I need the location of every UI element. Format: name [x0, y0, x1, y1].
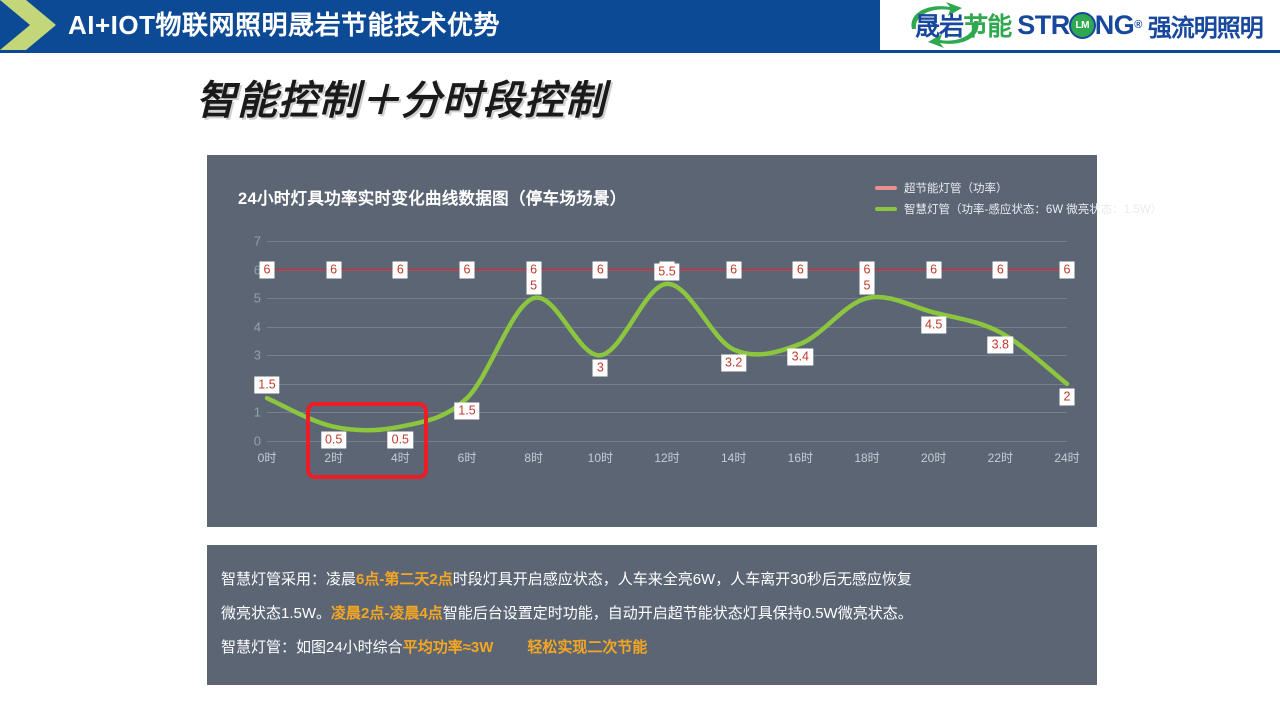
header-arrow-icon: [0, 0, 56, 50]
info-text: 时段灯具开启感应状态，人车来全亮6W，人车离开30秒后无感应恢复: [453, 571, 912, 588]
logo-cn-green: 节能: [963, 13, 1011, 41]
y-axis-tick-label: 0: [254, 434, 261, 449]
logo-lm-badge: LM: [1069, 12, 1096, 39]
legend-swatch-icon: [875, 186, 897, 190]
info-line: 微亮状态1.5W。凌晨2点-凌晨4点智能后台设置定时功能，自动开启超节能状态灯具…: [221, 597, 1083, 631]
legend-label: 智慧灯管（功率-感应状态：6W 微亮状态：1.5W）: [904, 201, 1162, 217]
data-point-label: 6: [393, 261, 408, 278]
brand-logo: 晟岩节能 STR LM NG ® 强流明照明: [880, 0, 1280, 50]
data-point-label: 6: [1060, 261, 1075, 278]
data-point-label: 2: [1060, 388, 1075, 405]
x-axis-tick-label: 6时: [458, 449, 477, 466]
logo-brand-chinese: 强流明照明: [1148, 8, 1263, 43]
data-point-label: 6: [726, 261, 741, 278]
data-point-label: 6: [260, 261, 275, 278]
data-point-label: 1.5: [254, 377, 279, 394]
data-point-label: 6: [860, 261, 875, 278]
y-axis-labels: 01234567: [237, 241, 261, 441]
chart-panel: 24小时灯具功率实时变化曲线数据图（停车场场景） 超节能灯管（功率）智慧灯管（功…: [207, 155, 1097, 527]
data-point-label: 6: [926, 261, 941, 278]
data-point-label: 6: [460, 261, 475, 278]
logo-brand-strong: STR LM NG ®: [1017, 10, 1142, 41]
chart-title: 24小时灯具功率实时变化曲线数据图（停车场场景）: [238, 185, 627, 209]
slide-root: AI+IOT物联网照明晟岩节能技术优势 晟岩节能 STR LM NG ® 强流明…: [0, 0, 1280, 720]
info-highlight-text: 平均功率≈3W: [403, 639, 494, 656]
x-axis-tick-label: 12时: [654, 449, 679, 466]
registered-mark-icon: ®: [1134, 19, 1142, 31]
legend-swatch-icon: [875, 207, 897, 211]
y-axis-tick-label: 3: [254, 348, 261, 363]
logo-cn-dark: 晟岩: [915, 13, 963, 41]
data-point-label: 3.8: [988, 337, 1013, 354]
data-point-label: 6: [593, 261, 608, 278]
data-point-label: 6: [793, 261, 808, 278]
info-highlight-text: 6点-第二天2点: [356, 571, 453, 588]
x-axis-tick-label: 16时: [788, 449, 813, 466]
legend-item: 智慧灯管（功率-感应状态：6W 微亮状态：1.5W）: [875, 198, 1162, 219]
info-line: 智慧灯管：如图24小时综合平均功率≈3W轻松实现二次节能: [221, 631, 1083, 665]
chart-plot-area: 01234567 66666666666661.50.50.51.5535.53…: [237, 241, 1067, 461]
data-point-label: 6: [993, 261, 1008, 278]
data-point-label: 4.5: [921, 317, 946, 334]
data-point-label: 5.5: [654, 263, 679, 280]
y-axis-tick-label: 5: [254, 291, 261, 306]
info-text: 智能后台设置定时功能，自动开启超节能状态灯具保持0.5W微亮状态。: [443, 605, 913, 622]
data-point-label: 1.5: [454, 403, 479, 420]
logo-brand-pre: STR: [1017, 10, 1070, 41]
info-text: 智慧灯管采用：凌晨: [221, 571, 356, 588]
data-point-label: 5: [526, 278, 541, 295]
highlight-rectangle-annotation: [306, 402, 429, 479]
x-axis-tick-label: 8时: [524, 449, 543, 466]
data-point-label: 3.4: [788, 348, 813, 365]
page-title: AI+IOT物联网照明晟岩节能技术优势: [68, 7, 500, 43]
data-point-label: 3: [593, 360, 608, 377]
chart-legend: 超节能灯管（功率）智慧灯管（功率-感应状态：6W 微亮状态：1.5W）: [875, 177, 1162, 219]
x-axis-tick-label: 24时: [1054, 449, 1079, 466]
info-highlight-text: 轻松实现二次节能: [527, 639, 647, 656]
info-text: 智慧灯管：如图24小时综合: [221, 639, 403, 656]
data-point-label: 3.2: [721, 354, 746, 371]
x-axis-tick-label: 10时: [588, 449, 613, 466]
info-highlight-text: 凌晨2点-凌晨4点: [331, 605, 443, 622]
data-point-label: 5: [860, 278, 875, 295]
info-panel: 智慧灯管采用：凌晨6点-第二天2点时段灯具开启感应状态，人车来全亮6W，人车离开…: [207, 545, 1097, 685]
info-text: 微亮状态1.5W。: [221, 605, 331, 622]
header-divider: [0, 50, 1280, 53]
data-point-label: 6: [526, 261, 541, 278]
x-axis-tick-label: 0时: [258, 449, 277, 466]
x-axis-tick-label: 22时: [988, 449, 1013, 466]
x-axis-tick-label: 14时: [721, 449, 746, 466]
info-line: 智慧灯管采用：凌晨6点-第二天2点时段灯具开启感应状态，人车来全亮6W，人车离开…: [221, 563, 1083, 597]
legend-item: 超节能灯管（功率）: [875, 177, 1162, 198]
x-axis-tick-label: 18时: [854, 449, 879, 466]
logo-brand-post: NG: [1095, 10, 1135, 41]
y-axis-tick-label: 4: [254, 319, 261, 334]
x-axis-tick-label: 20时: [921, 449, 946, 466]
logo-chinese-name: 晟岩节能: [897, 7, 1011, 43]
slide-subtitle: 智能控制＋分时段控制: [196, 68, 606, 126]
legend-label: 超节能灯管（功率）: [904, 180, 1008, 196]
data-point-label: 6: [326, 261, 341, 278]
y-axis-tick-label: 7: [254, 234, 261, 249]
y-axis-tick-label: 1: [254, 405, 261, 420]
